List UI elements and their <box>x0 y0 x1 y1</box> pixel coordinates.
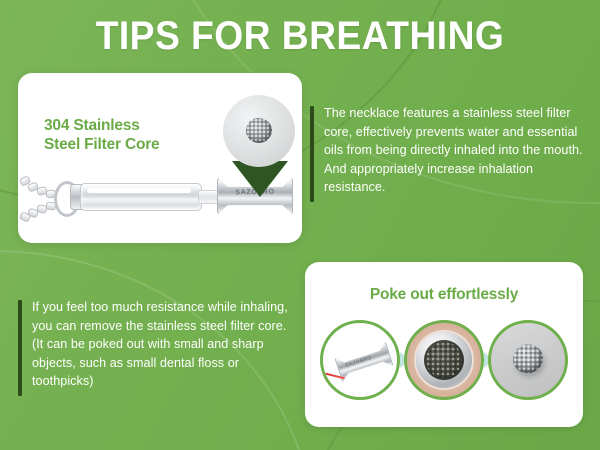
step-image-poke-with-tool: SAZOBRO <box>320 320 400 400</box>
mesh-filter-texture <box>426 342 462 378</box>
step-image-filter-loosened <box>404 320 484 400</box>
filter-core-card: 304 Stainless Steel Filter Core SAZOBRO <box>18 73 302 243</box>
removal-instruction-text: If you feel too much resistance while in… <box>32 300 288 388</box>
feature-description-text: The necklace features a stainless steel … <box>324 106 583 194</box>
mesh-filter-ball <box>513 344 543 373</box>
accent-bar <box>18 300 22 396</box>
product-photo: SAZOBRO <box>18 73 302 243</box>
filter-core-magnifier <box>223 95 295 167</box>
accent-bar <box>310 106 314 202</box>
feature-description-block: The necklace features a stainless steel … <box>310 104 588 197</box>
glass-tube-vial <box>80 183 202 211</box>
mesh-filter-ball <box>246 118 272 143</box>
page-title: TIPS FOR BREATHING <box>21 14 579 58</box>
step-image-filter-removed <box>488 320 568 400</box>
poke-out-heading: Poke out effortlessly <box>305 286 583 304</box>
poke-out-card: Poke out effortlessly SAZOBRO <box>305 262 583 427</box>
removal-instruction-block: If you feel too much resistance while in… <box>18 298 290 391</box>
